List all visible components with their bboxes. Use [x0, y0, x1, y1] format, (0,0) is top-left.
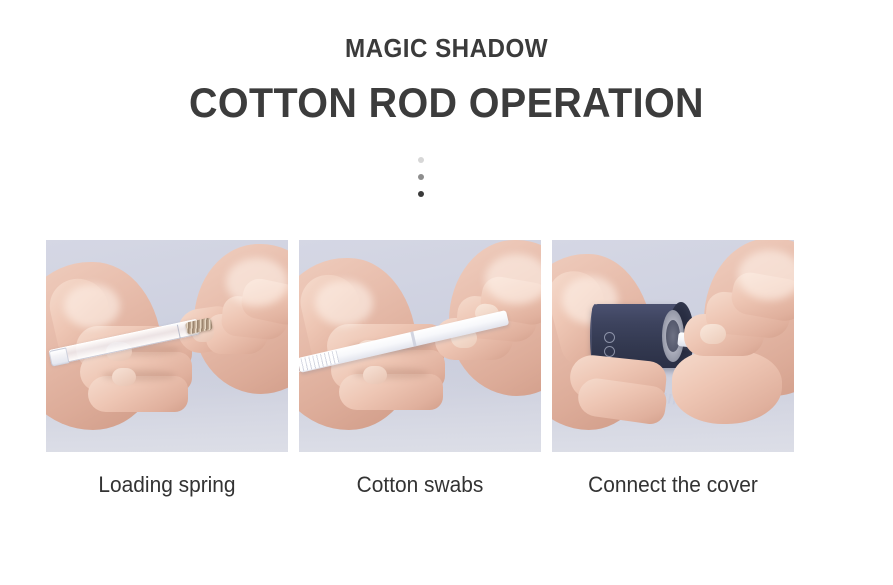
palm-highlight — [64, 284, 120, 328]
cover-button-2 — [604, 346, 615, 357]
dot-mid-icon — [418, 174, 424, 180]
step-photo-loading-spring — [46, 240, 288, 452]
step-photo-row — [46, 240, 796, 452]
header: MAGIC SHADOW COTTON ROD OPERATION — [0, 0, 893, 124]
fingernail-1 — [700, 324, 726, 344]
rod-joint — [410, 331, 416, 346]
dot-dark-icon — [418, 191, 424, 197]
product-infographic: MAGIC SHADOW COTTON ROD OPERATION — [0, 0, 893, 585]
right-lower-palm — [672, 350, 782, 424]
dot-light-icon — [418, 157, 424, 163]
decorative-dots — [413, 157, 429, 197]
right-palm-highlight — [738, 250, 794, 300]
fingernail-2 — [363, 366, 387, 384]
brand-eyebrow: MAGIC SHADOW — [31, 0, 861, 61]
page-title: COTTON ROD OPERATION — [27, 61, 866, 124]
step-caption-row: Loading spring Cotton swabs Connect the … — [46, 473, 796, 497]
caption-connect-the-cover: Connect the cover — [558, 473, 788, 497]
caption-loading-spring: Loading spring — [52, 473, 282, 497]
caption-cotton-swabs: Cotton swabs — [305, 473, 535, 497]
step-photo-cotton-swabs — [299, 240, 541, 452]
step-photo-connect-the-cover — [552, 240, 794, 452]
cover-button-1 — [604, 332, 615, 343]
left-finger-3 — [339, 374, 443, 410]
palm-highlight — [315, 280, 373, 326]
rod-seam — [177, 325, 181, 339]
right-palm-highlight — [226, 258, 288, 306]
fingernail-3 — [112, 368, 136, 386]
right-palm-highlight — [485, 254, 541, 304]
left-finger-3 — [88, 376, 188, 412]
